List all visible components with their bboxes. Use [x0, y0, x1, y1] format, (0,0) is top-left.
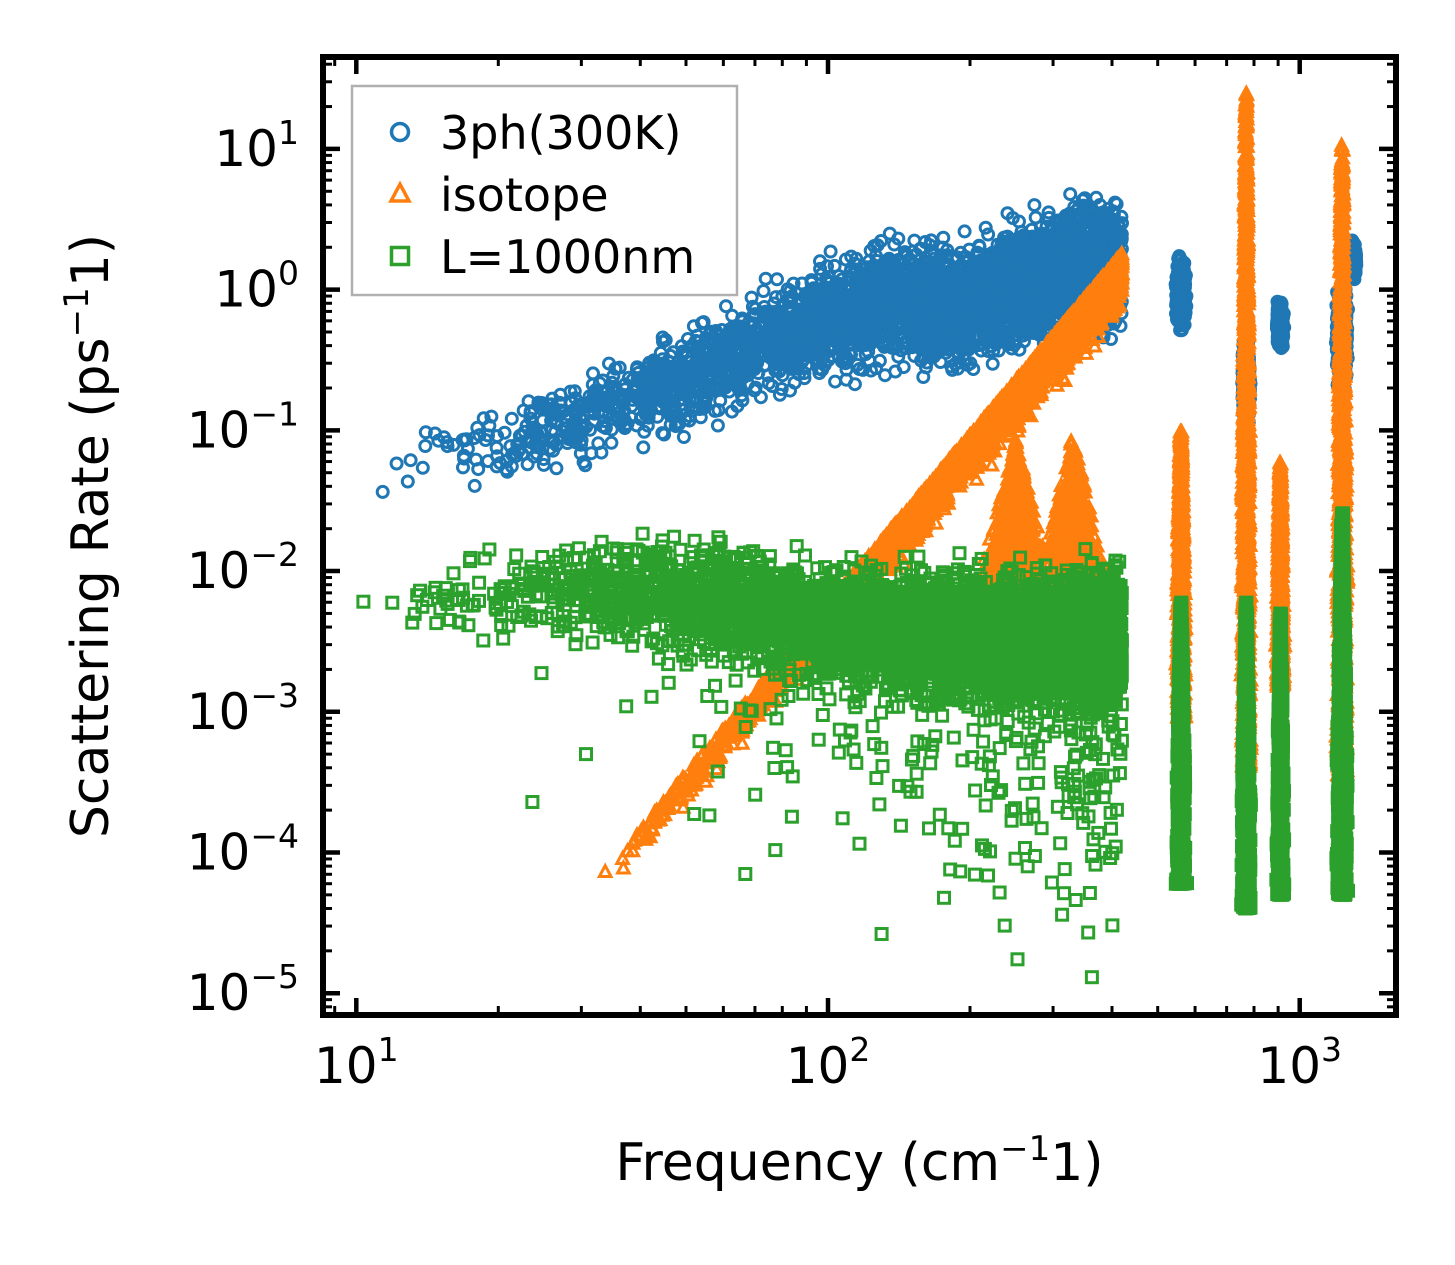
plot-canvas: 3ph(300K)isotopeL=1000nm 101102103101100…: [0, 0, 1455, 1265]
x-axis-title: Frequency (cm−11): [615, 1129, 1103, 1193]
x-tick-label: 102: [786, 1030, 871, 1095]
legend-layer: 3ph(300K)isotopeL=1000nm: [352, 86, 737, 295]
y-tick-label: 10−4: [187, 816, 299, 881]
series-points-l-1000nm: [358, 508, 1354, 983]
x-tick-label: 103: [1257, 1030, 1342, 1095]
x-tick-label: 101: [314, 1030, 399, 1095]
y-tick-label: 10−1: [187, 394, 299, 459]
y-axis-title: Scattering Rate (ps−11): [57, 234, 121, 838]
legend-label: 3ph(300K): [440, 106, 681, 160]
y-tick-label: 101: [214, 113, 299, 178]
legend-label: isotope: [440, 168, 609, 222]
y-tick-label: 10−2: [187, 535, 299, 600]
y-tick-label: 10−5: [187, 957, 299, 1022]
legend-label: L=1000nm: [440, 230, 695, 284]
y-tick-label: 100: [214, 254, 299, 319]
scatter-plot-figure: 3ph(300K)isotopeL=1000nm 101102103101100…: [0, 0, 1455, 1265]
y-tick-label: 10−3: [187, 676, 299, 741]
